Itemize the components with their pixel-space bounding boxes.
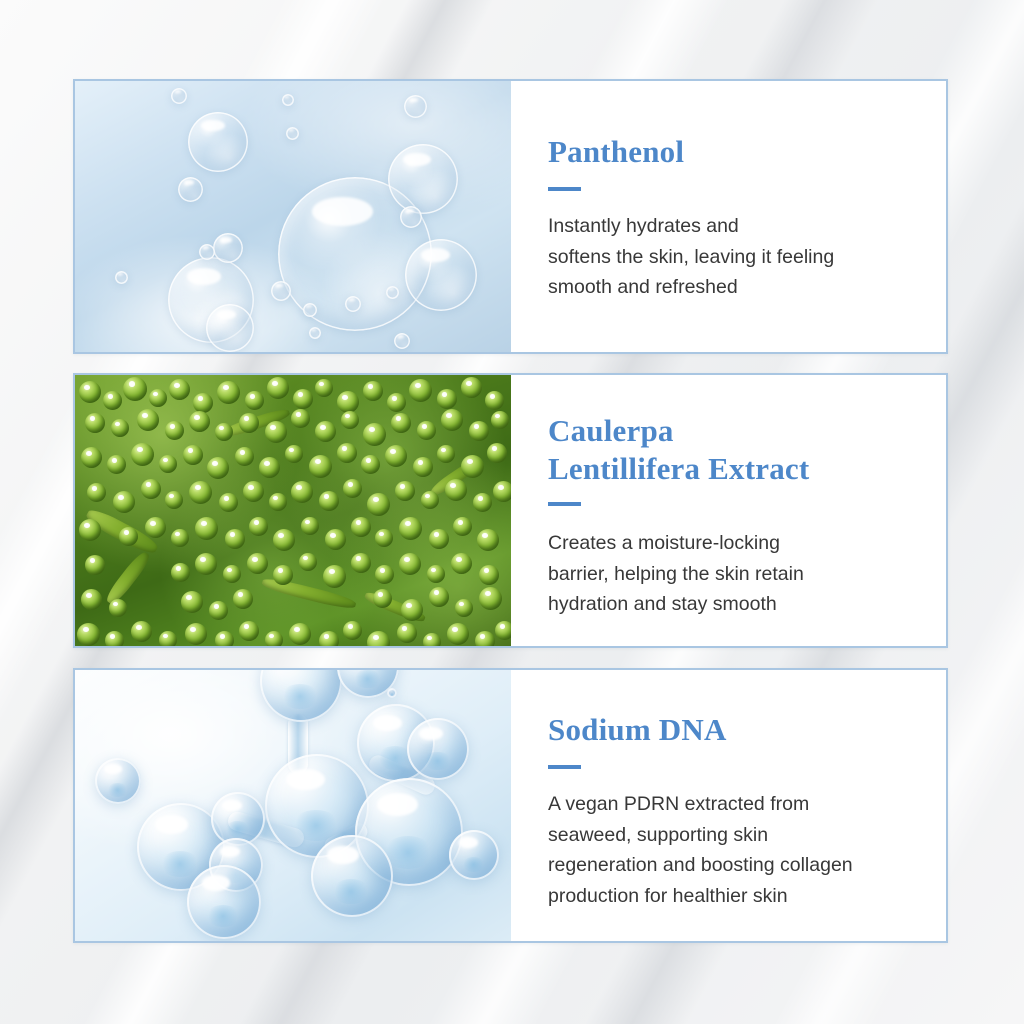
ingredient-infographic-page: Panthenol Instantly hydrates and softens… xyxy=(0,0,1024,1024)
atom-top xyxy=(260,670,342,722)
ingredient-description: Creates a moisture-locking barrier, help… xyxy=(548,528,926,620)
bubble-micro-2 xyxy=(171,88,187,104)
ingredient-text-panel: Sodium DNA A vegan PDRN extracted from s… xyxy=(511,670,946,941)
bubble-micro-7 xyxy=(345,296,361,312)
bubble-right-mid xyxy=(405,239,477,311)
atom-far-right xyxy=(449,830,499,880)
atom-upper-right-small xyxy=(407,718,469,780)
atom-bottom-center xyxy=(311,835,393,917)
bubble-micro-1 xyxy=(199,244,215,260)
bubble-top-right xyxy=(388,144,458,214)
bubble-micro-11 xyxy=(309,327,321,339)
bubble-micro-4 xyxy=(286,127,299,140)
water-bubbles-photo xyxy=(75,81,511,352)
ingredient-title: Sodium DNA xyxy=(548,711,926,749)
bubble-micro-3 xyxy=(282,94,294,106)
ingredient-description: A vegan PDRN extracted from seaweed, sup… xyxy=(548,789,926,911)
ingredient-title: Panthenol xyxy=(548,133,926,171)
ingredient-description: Instantly hydrates and softens the skin,… xyxy=(548,211,926,303)
bubble-micro-6 xyxy=(303,303,317,317)
ingredient-card-panthenol: Panthenol Instantly hydrates and softens… xyxy=(73,79,948,354)
atom-speck xyxy=(387,688,397,698)
sea-grapes-seaweed-photo xyxy=(75,375,511,646)
atom-bottom-left xyxy=(187,865,261,939)
bubble-small-right xyxy=(400,206,422,228)
ingredient-title: Caulerpa Lentillifera Extract xyxy=(548,412,926,488)
bubble-bottom-left xyxy=(206,304,254,352)
molecule-structure-photo xyxy=(75,670,511,941)
ingredient-card-sodium-dna: Sodium DNA A vegan PDRN extracted from s… xyxy=(73,668,948,943)
accent-rule xyxy=(548,502,581,506)
bubble-small-center-left xyxy=(213,233,243,263)
ingredient-text-panel: Panthenol Instantly hydrates and softens… xyxy=(511,81,946,352)
bubble-micro-9 xyxy=(115,271,128,284)
bubble-micro-10 xyxy=(394,333,410,349)
bubble-micro-5 xyxy=(271,281,291,301)
bubble-micro-8 xyxy=(386,286,399,299)
bubble-tiny-left xyxy=(178,177,203,202)
ingredient-card-caulerpa-lentillifera-extract: Caulerpa Lentillifera Extract Creates a … xyxy=(73,373,948,648)
atom-far-left xyxy=(95,758,141,804)
bubble-top-left xyxy=(188,112,248,172)
accent-rule xyxy=(548,187,581,191)
bubble-tiny-top xyxy=(404,95,427,118)
accent-rule xyxy=(548,765,581,769)
sea-grape-clusters xyxy=(75,375,511,646)
ingredient-text-panel: Caulerpa Lentillifera Extract Creates a … xyxy=(511,375,946,646)
